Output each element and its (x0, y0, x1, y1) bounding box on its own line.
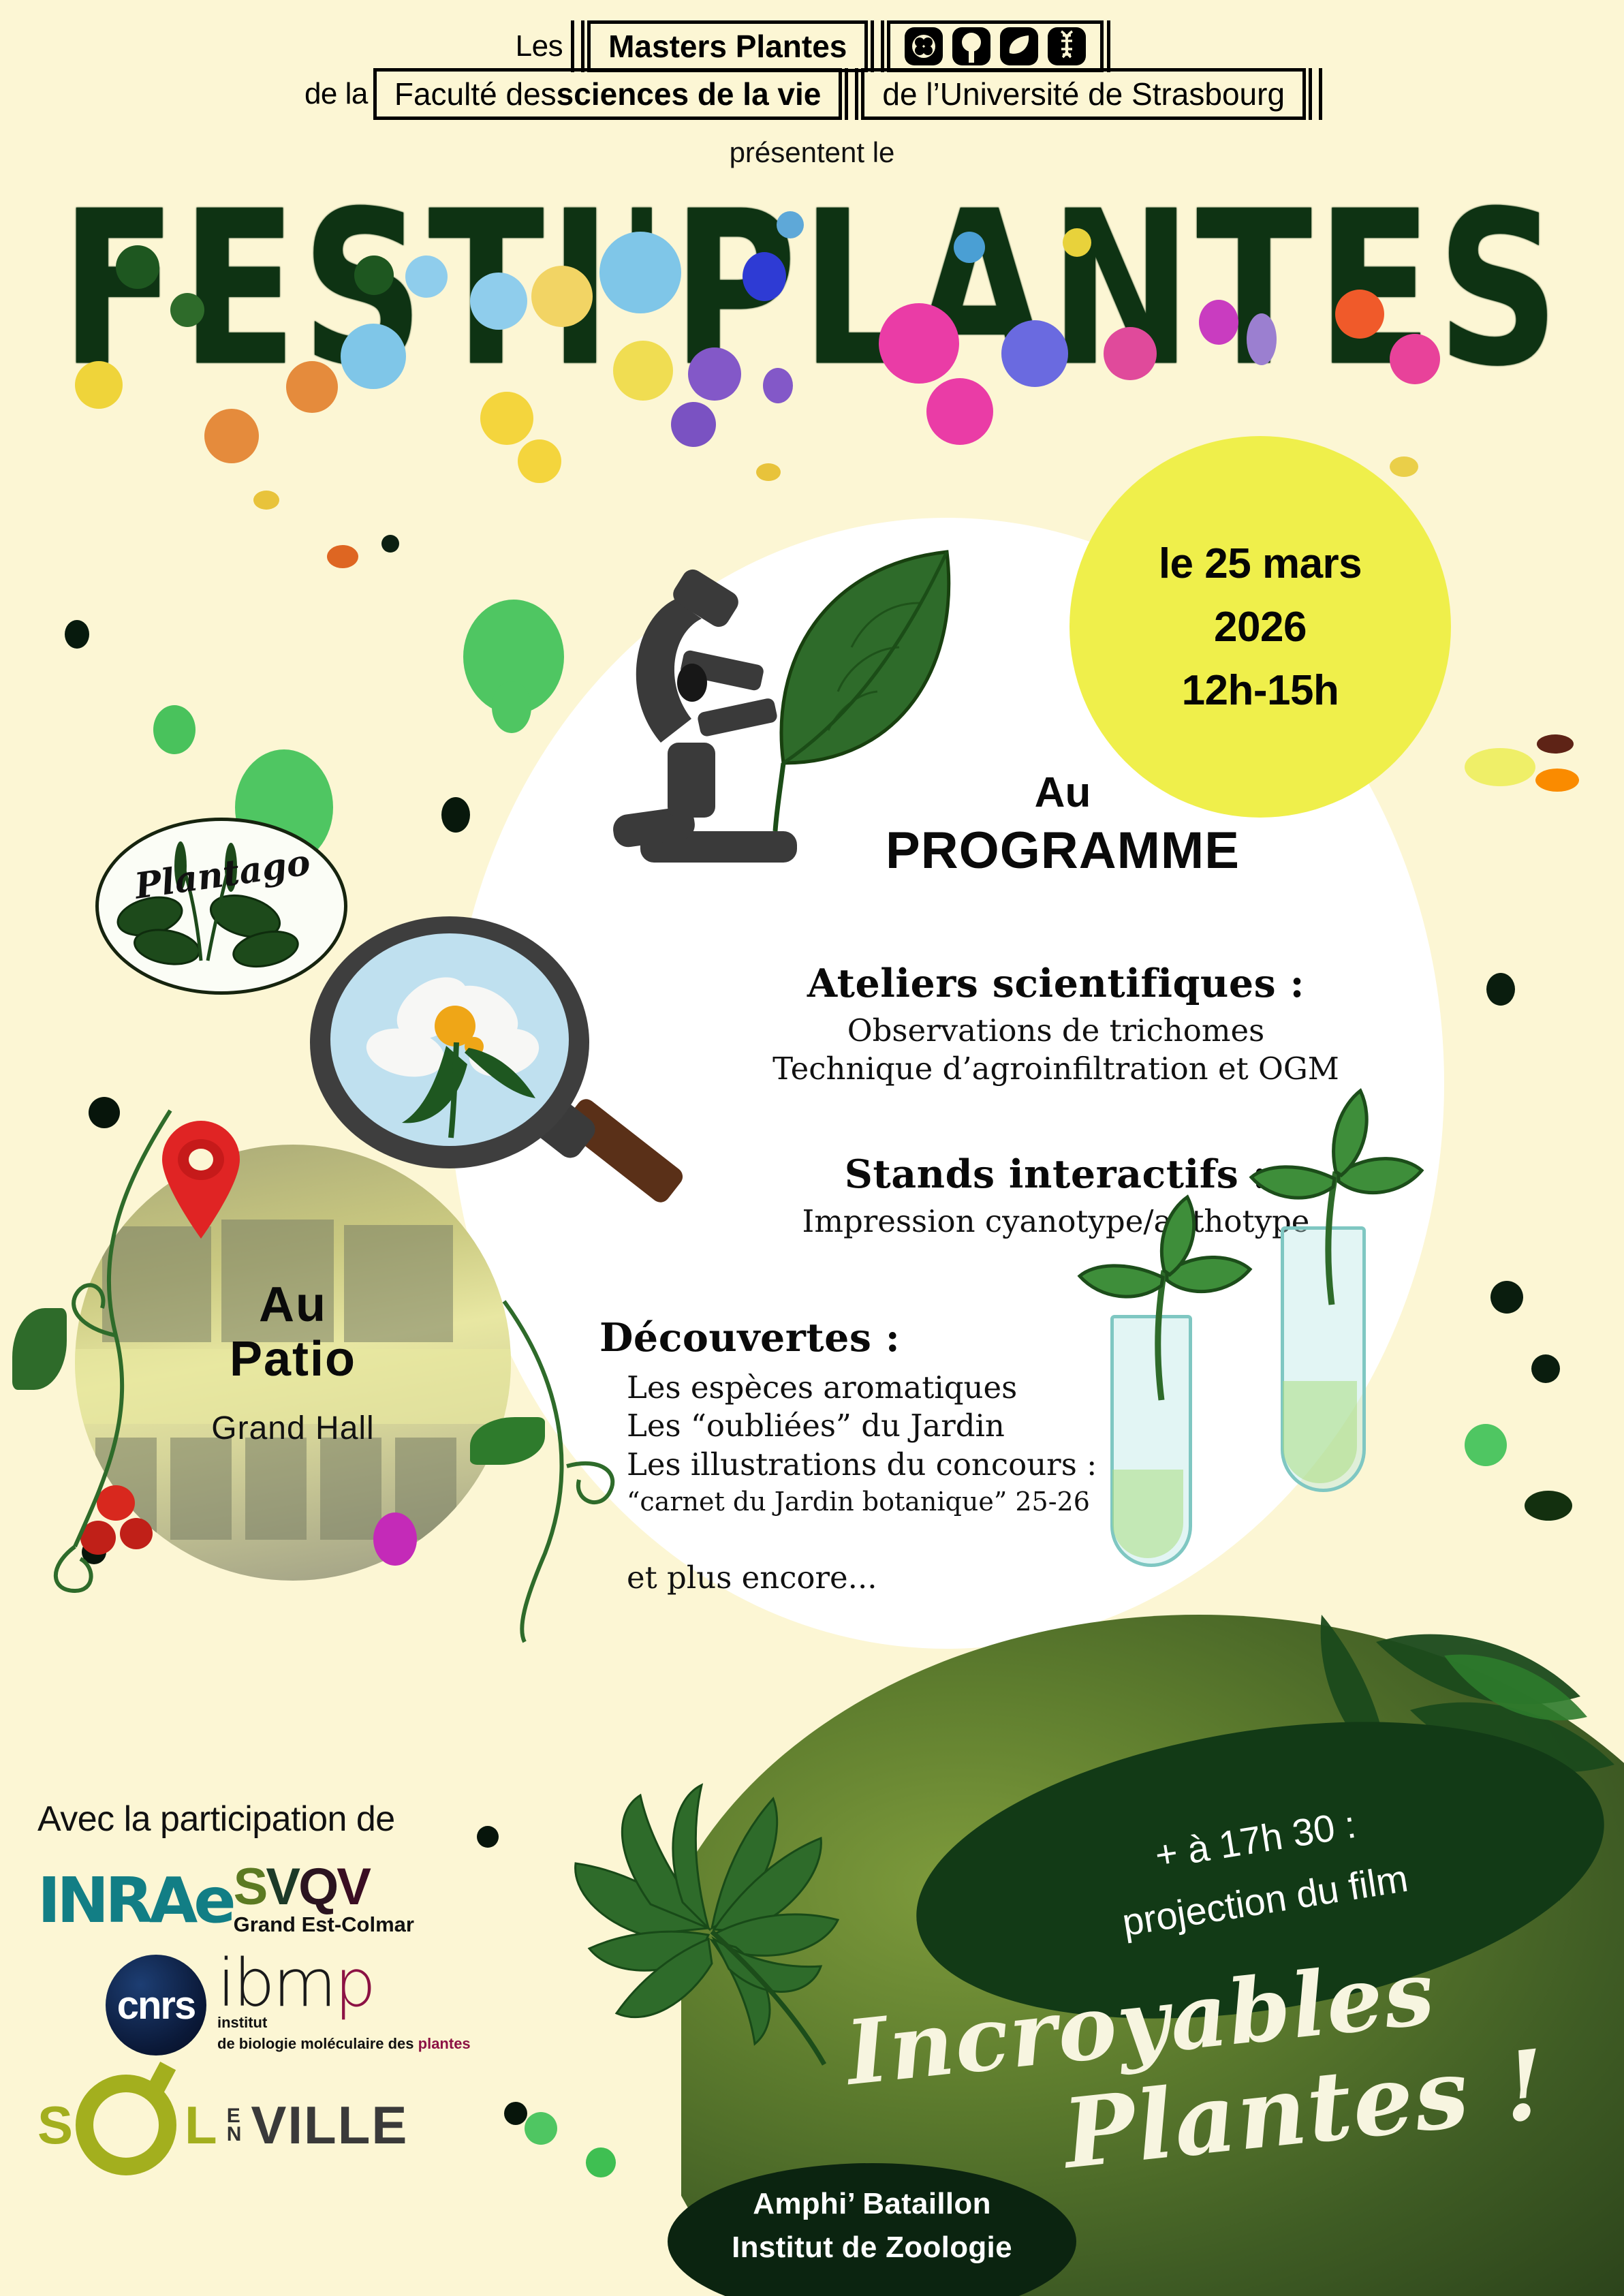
date-line-2: 2026 (1214, 603, 1307, 651)
header-les: Les (510, 20, 568, 72)
header-masters-plantes: Masters Plantes (608, 28, 847, 65)
decorative-dot (1525, 1491, 1572, 1521)
programme-footer-note: et plus encore... (599, 1559, 1213, 1597)
header-divider (571, 20, 584, 72)
decorative-dot (492, 681, 531, 733)
dna-helix-icon (1048, 27, 1086, 65)
programme-heading-large: PROGRAMME (763, 816, 1362, 886)
decorative-dot (1531, 1354, 1560, 1383)
vine-decoration (27, 1104, 313, 1594)
poster-canvas: Les Masters Plantes (0, 0, 1624, 2296)
tree-icon (952, 27, 990, 65)
logo-sol-n: N (227, 2125, 242, 2143)
header-presentent: présentent le (0, 136, 1624, 169)
logo-ibmp-main: ibm (217, 1945, 334, 2021)
logo-svqv: SVQV (234, 1864, 414, 1910)
decorative-dot (1537, 734, 1574, 754)
header-row-1: Les Masters Plantes (0, 20, 1624, 72)
flower-icon (905, 27, 943, 65)
sponsors-block: Avec la participation de INRAe SVQV Gran… (37, 1799, 501, 2175)
decorative-dot (441, 797, 470, 833)
flower-decor (204, 409, 259, 463)
logo-svqv-v: V (266, 1858, 298, 1916)
header: Les Masters Plantes (0, 20, 1624, 169)
logo-ibmp-sub2: de biologie moléculaire des plantes (217, 2034, 471, 2053)
logo-svqv-q: Q (298, 1858, 337, 1916)
programme-heading-small: Au (763, 770, 1362, 816)
logo-cnrs: cnrs (106, 1955, 206, 2055)
decorative-dot (504, 2102, 527, 2125)
logo-ibmp-sub2-pre: de biologie moléculaire des (217, 2035, 418, 2052)
logo-ibmp: ibmp (217, 1957, 471, 2011)
programme-section-ateliers: Ateliers scientifiques : Observations de… (736, 961, 1376, 1089)
header-divider (845, 68, 858, 120)
logo-ibmp-p: p (334, 1945, 374, 2021)
logo-ibmp-sub2-accent: plantes (418, 2035, 471, 2052)
logo-sol-e: E (227, 2107, 242, 2125)
header-de-la: de la (299, 68, 373, 120)
leaf-drop-icon (1000, 27, 1038, 65)
logo-sol-l: L (185, 2094, 217, 2156)
logo-svqv-s: S (234, 1858, 266, 1916)
date-badge: le 25 mars 2026 12h-15h (1069, 436, 1451, 818)
header-divider (871, 20, 884, 72)
sponsor-row-cnrs-ibmp: cnrs ibmp institut de biologie moléculai… (37, 1955, 501, 2055)
logo-sol-s: S (37, 2094, 73, 2156)
decorative-dot (1486, 973, 1515, 1006)
logo-inrae: INRAe (37, 1864, 232, 1937)
header-row-2: de la Faculté des sciences de la vie de … (0, 68, 1624, 120)
header-masters-plantes-box: Masters Plantes (587, 20, 868, 72)
logo-svqv-v2: V (337, 1858, 369, 1916)
header-faculte-bold: sciences de la vie (557, 76, 822, 112)
header-divider (1107, 20, 1110, 72)
page-title: FESTI'PLANTES (0, 183, 1624, 397)
header-universite-box: de l’Université de Strasbourg (861, 68, 1306, 120)
decorative-dot (1465, 1424, 1507, 1466)
logo-sol-ville: VILLE (251, 2094, 408, 2156)
header-faculte-prefix: Faculté des (394, 76, 557, 112)
decorative-dot (1490, 1281, 1523, 1314)
section-title: Ateliers scientifiques : (736, 961, 1376, 1006)
plantago-logo: Plantago (95, 818, 347, 995)
logo-sol-en: E N (227, 2107, 242, 2143)
programme-heading: Au PROGRAMME (763, 770, 1362, 886)
header-divider (1309, 68, 1322, 120)
logo-sol-en-ville: S L E N VILLE (37, 2075, 501, 2175)
sponsors-title: Avec la participation de (37, 1799, 501, 1840)
venue-line-2: Institut de Zoologie (732, 2226, 1012, 2269)
header-universite: de l’Université de Strasbourg (882, 76, 1285, 112)
bee-decor (253, 491, 279, 510)
sponsor-row-inrae-svqv: INRAe SVQV Grand Est-Colmar (37, 1864, 501, 1937)
decorative-dot (586, 2147, 616, 2177)
bee-decor (756, 463, 781, 481)
decorative-dot (65, 620, 89, 649)
section-item: Observations de trichomes (736, 1012, 1376, 1050)
header-icon-box (887, 20, 1104, 72)
butterfly-decor (327, 545, 358, 568)
venue-line-1: Amphi’ Bataillon (753, 2182, 991, 2226)
decorative-dot (153, 705, 196, 754)
date-line-1: le 25 mars (1159, 540, 1362, 588)
logo-sol-o-icon (76, 2075, 176, 2175)
decorative-dot (381, 535, 399, 553)
flower-decor (518, 439, 561, 483)
decorative-dot (525, 2112, 557, 2145)
header-faculte-box: Faculté des sciences de la vie (373, 68, 843, 120)
logo-svqv-sub: Grand Est-Colmar (234, 1912, 414, 1937)
flower-decor (373, 1512, 417, 1566)
butterfly-decor (1390, 456, 1418, 477)
decorative-dot (1465, 748, 1535, 786)
date-line-3: 12h-15h (1182, 666, 1339, 715)
sprout-right-illustration (1230, 1080, 1454, 1312)
decorative-dot (1535, 769, 1579, 792)
